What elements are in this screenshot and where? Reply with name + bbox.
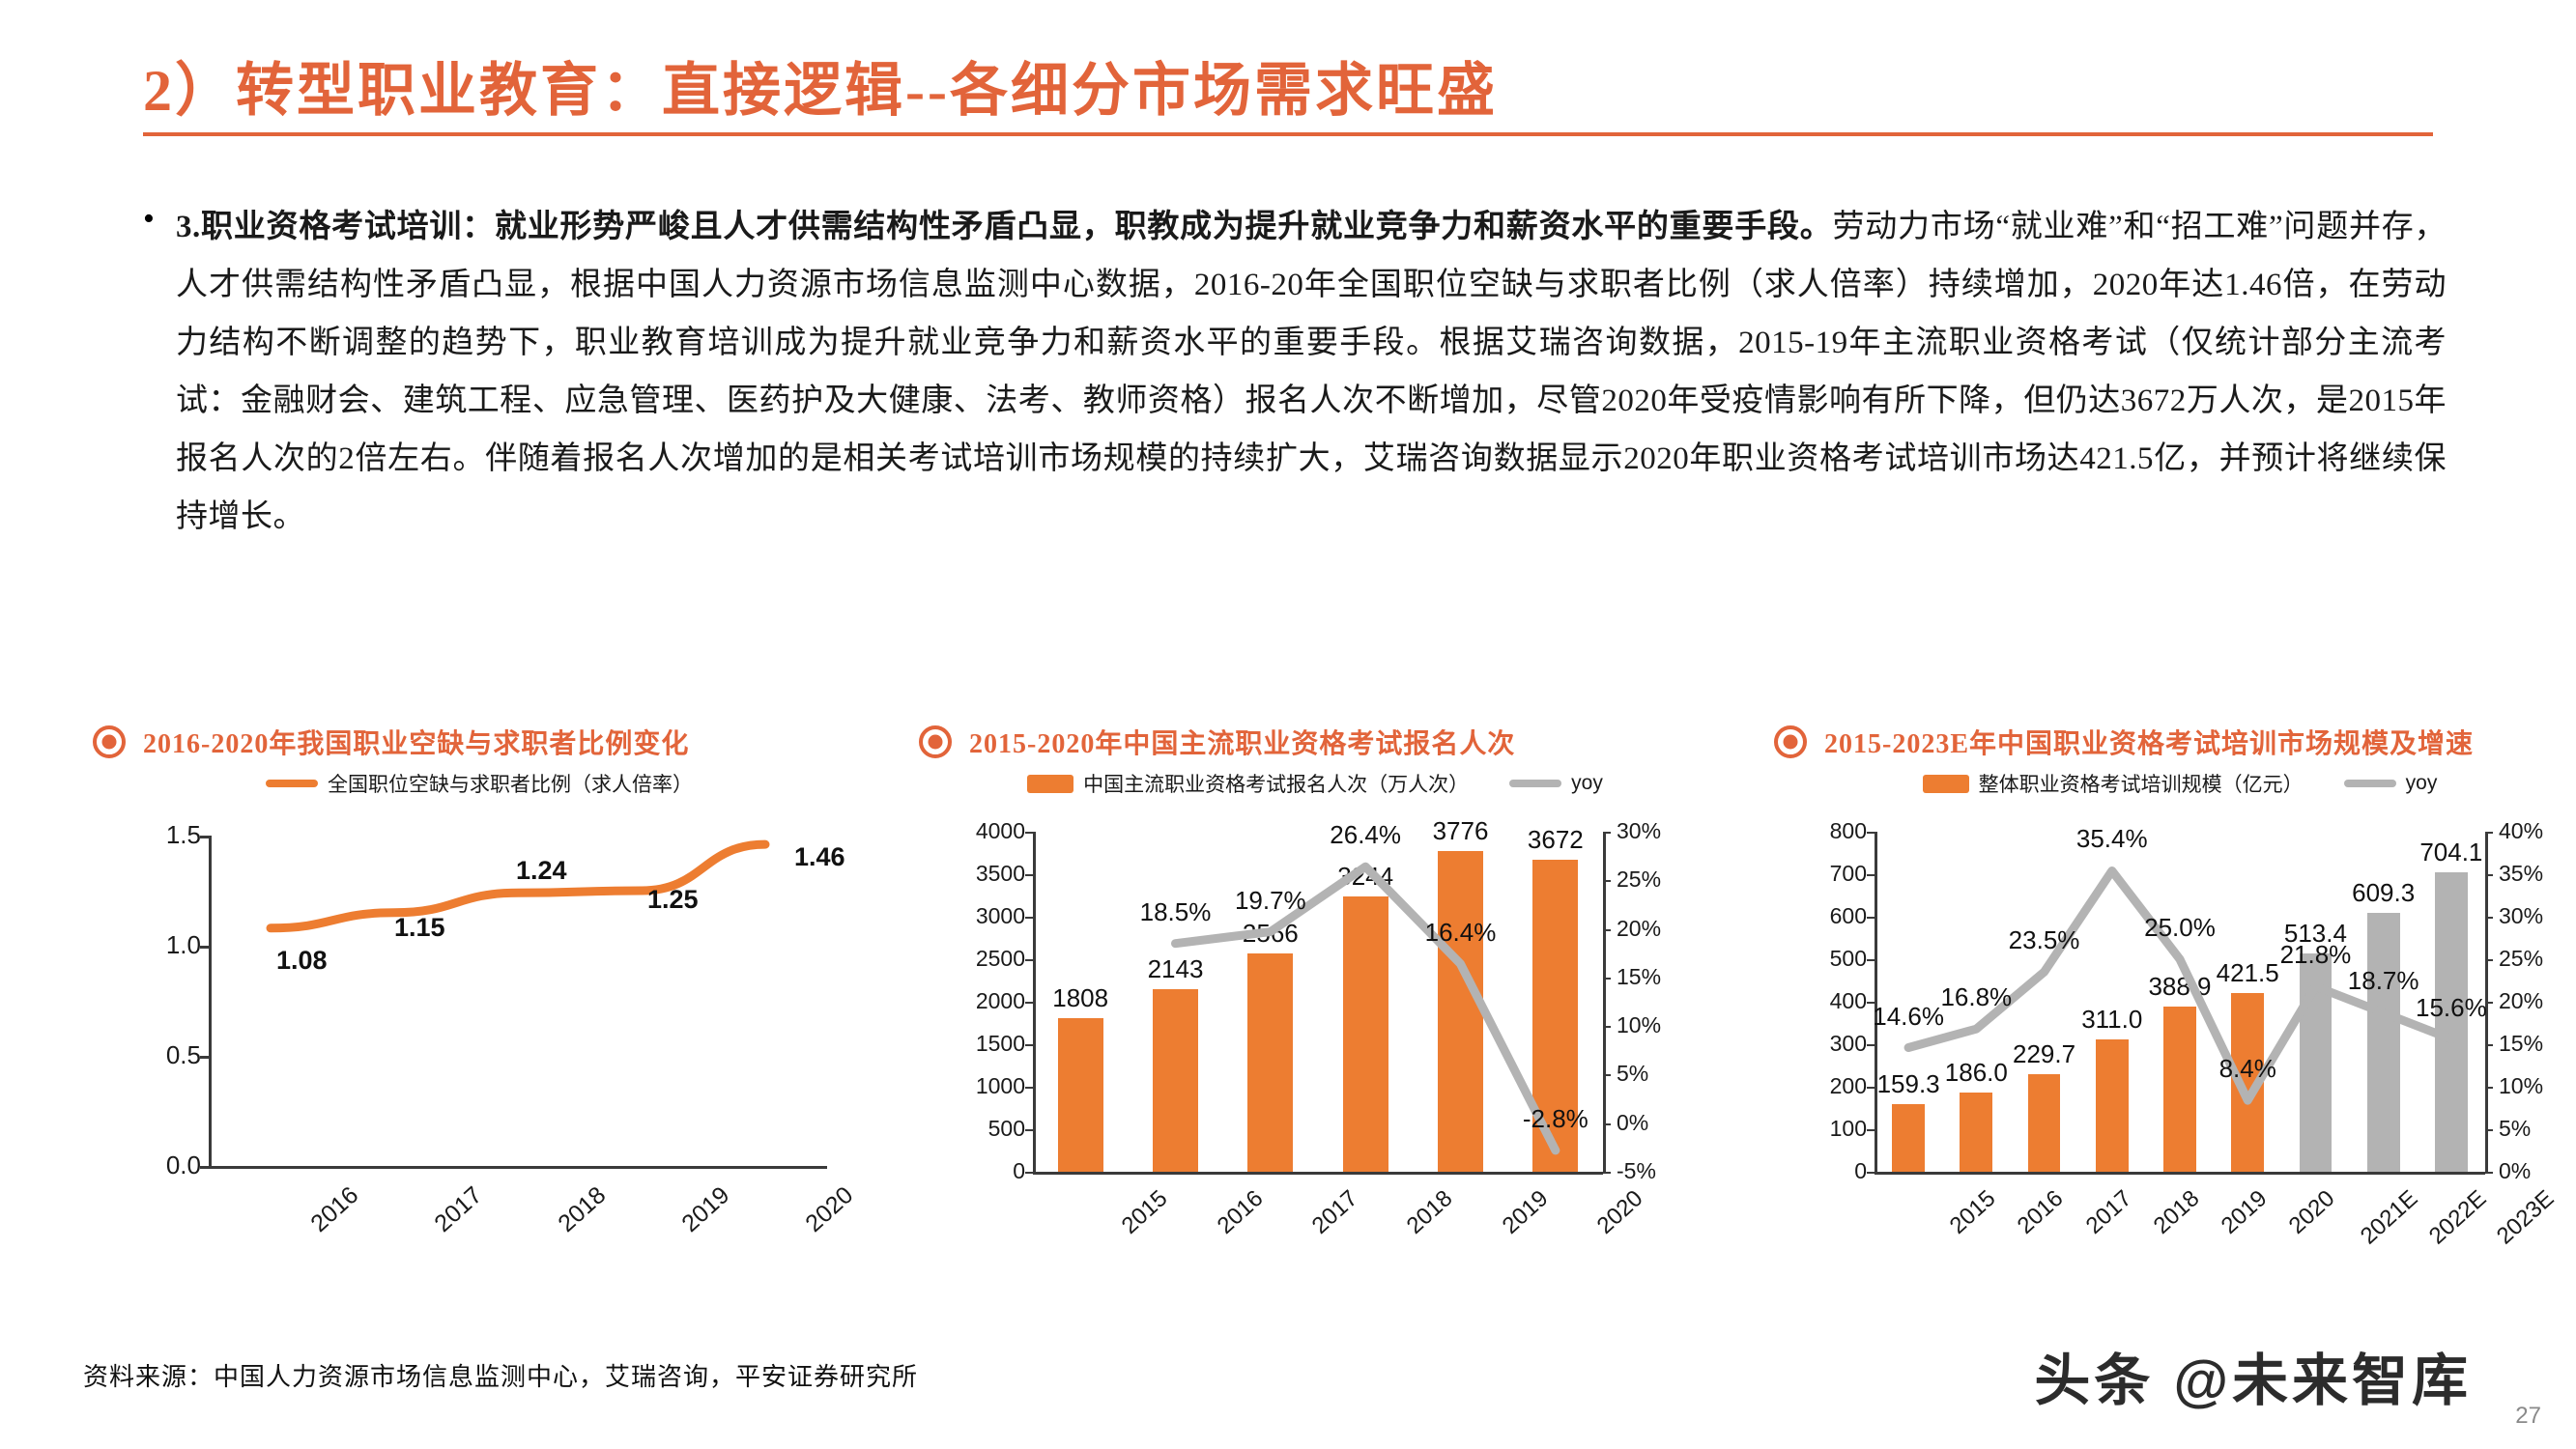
legend-line-swatch-icon bbox=[266, 780, 318, 787]
legend-bar-swatch-icon bbox=[1923, 775, 1969, 793]
legend-label: 中国主流职业资格考试报名人次（万人次） bbox=[1083, 769, 1469, 798]
line-value-label: 35.4% bbox=[2059, 824, 2165, 854]
legend-item: 整体职业资格考试培训规模（亿元） bbox=[1923, 769, 2304, 798]
bullet-point-icon: • bbox=[143, 198, 176, 546]
line-value-label: 8.4% bbox=[2194, 1054, 2301, 1084]
legend-label: 全国职位空缺与求职者比例（求人倍率） bbox=[328, 769, 693, 798]
chart-3-legend: 整体职业资格考试培训规模（亿元） yoy bbox=[1774, 764, 2576, 803]
chart-2-header: 2015-2020年中国主流职业资格考试报名人次 bbox=[919, 720, 1711, 764]
chart-3-header: 2015-2023E年中国职业资格考试培训市场规模及增速 bbox=[1774, 720, 2576, 764]
legend-bar-swatch-icon bbox=[1027, 775, 1073, 793]
legend-item: yoy bbox=[2344, 772, 2438, 795]
line-value-label: 18.5% bbox=[1123, 897, 1229, 927]
chart-3-plot: 01002003004005006007008000%5%10%15%20%25… bbox=[1774, 818, 2576, 1272]
page-title-block: 2）转型职业教育：直接逻辑--各细分市场需求旺盛 bbox=[143, 58, 2433, 136]
page-number: 27 bbox=[2515, 1403, 2541, 1430]
chart-2-plot: 05001000150020002500300035004000-5%0%5%1… bbox=[919, 818, 1711, 1272]
legend-item: yoy bbox=[1509, 772, 1603, 795]
body-paragraph-block: • 3.职业资格考试培训：就业形势严峻且人才供需结构性矛盾凸显，职教成为提升就业… bbox=[143, 198, 2452, 546]
body-lead-sentence: 3.职业资格考试培训：就业形势严峻且人才供需结构性矛盾凸显，职教成为提升就业竞争… bbox=[176, 210, 1833, 244]
chart-2-title: 2015-2020年中国主流职业资格考试报名人次 bbox=[969, 723, 1515, 761]
source-note: 资料来源：中国人力资源市场信息监测中心，艾瑞咨询，平安证券研究所 bbox=[83, 1357, 918, 1393]
legend-line-swatch-icon bbox=[1509, 780, 1561, 787]
data-label: 1.46 bbox=[794, 842, 845, 872]
chart-panel-2: 2015-2020年中国主流职业资格考试报名人次 中国主流职业资格考试报名人次（… bbox=[919, 720, 1711, 1272]
legend-item: 中国主流职业资格考试报名人次（万人次） bbox=[1027, 769, 1469, 798]
data-label: 1.15 bbox=[394, 913, 445, 943]
legend-label: yoy bbox=[2406, 772, 2438, 795]
chart-1-header: 2016-2020年我国职业空缺与求职者比例变化 bbox=[93, 720, 866, 764]
chart-1-plot: 0.00.51.01.51.081.151.241.251.4620162017… bbox=[93, 818, 866, 1272]
page-title: 2）转型职业教育：直接逻辑--各细分市场需求旺盛 bbox=[143, 58, 2433, 125]
legend-label: 整体职业资格考试培训规模（亿元） bbox=[1979, 769, 2304, 798]
bullet-ring-icon bbox=[93, 725, 126, 758]
title-underline-divider bbox=[143, 132, 2433, 136]
line-value-label: 25.0% bbox=[2127, 913, 2233, 943]
legend-label: yoy bbox=[1571, 772, 1603, 795]
bullet-ring-icon bbox=[919, 725, 952, 758]
line-value-label: -2.8% bbox=[1503, 1104, 1609, 1134]
bullet-ring-icon bbox=[1774, 725, 1807, 758]
chart-1-legend: 全国职位空缺与求职者比例（求人倍率） bbox=[93, 764, 866, 803]
data-label: 1.08 bbox=[276, 946, 328, 976]
line-value-label: 23.5% bbox=[1991, 925, 2098, 955]
chart-3-title: 2015-2023E年中国职业资格考试培训市场规模及增速 bbox=[1824, 723, 2474, 761]
data-label: 1.24 bbox=[516, 856, 567, 886]
line-value-label: 16.4% bbox=[1408, 918, 1514, 948]
line-value-label: 15.6% bbox=[2398, 993, 2504, 1023]
data-label: 1.25 bbox=[647, 885, 699, 915]
line-value-label: 26.4% bbox=[1312, 820, 1418, 850]
line-value-label: 19.7% bbox=[1217, 886, 1324, 916]
watermark: 头条 @未来智库 bbox=[2034, 1335, 2472, 1416]
chart-panel-1: 2016-2020年我国职业空缺与求职者比例变化 全国职位空缺与求职者比例（求人… bbox=[93, 720, 866, 1272]
body-paragraph: 3.职业资格考试培训：就业形势严峻且人才供需结构性矛盾凸显，职教成为提升就业竞争… bbox=[176, 198, 2447, 546]
slide-page: 2）转型职业教育：直接逻辑--各细分市场需求旺盛 • 3.职业资格考试培训：就业… bbox=[0, 0, 2576, 1449]
legend-line-swatch-icon bbox=[2344, 780, 2396, 787]
chart-panel-3: 2015-2023E年中国职业资格考试培训市场规模及增速 整体职业资格考试培训规… bbox=[1774, 720, 2576, 1272]
legend-item: 全国职位空缺与求职者比例（求人倍率） bbox=[266, 769, 693, 798]
chart-1-title: 2016-2020年我国职业空缺与求职者比例变化 bbox=[143, 723, 689, 761]
body-rest: 劳动力市场“就业难”和“招工难”问题并存，人才供需结构性矛盾凸显，根据中国人力资… bbox=[176, 210, 2447, 534]
line-value-label: 16.8% bbox=[1923, 982, 2029, 1012]
chart-2-legend: 中国主流职业资格考试报名人次（万人次） yoy bbox=[919, 764, 1711, 803]
charts-row: 2016-2020年我国职业空缺与求职者比例变化 全国职位空缺与求职者比例（求人… bbox=[93, 720, 2489, 1319]
